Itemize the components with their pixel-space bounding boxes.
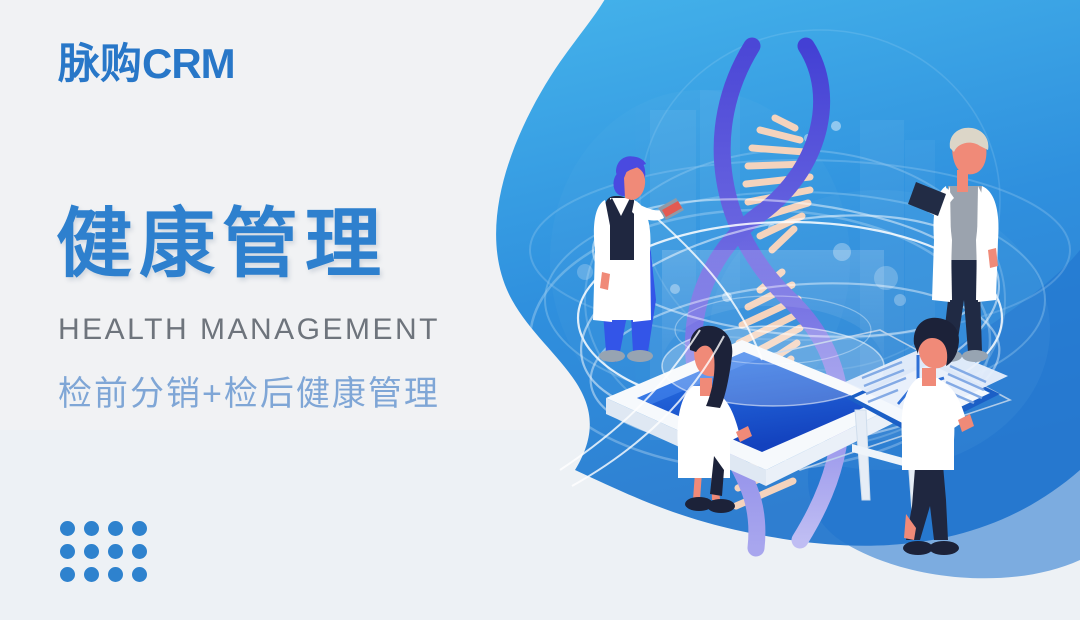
- brand-logo-cn: 脉购: [58, 40, 142, 87]
- brand-logo[interactable]: 脉购CRM: [58, 43, 235, 85]
- banner-artwork: [0, 0, 1080, 620]
- health-management-banner: 脉购CRM 健康管理 HEALTH MANAGEMENT 检前分销+检后健康管理: [0, 0, 1080, 620]
- brand-logo-latin: CRM: [142, 40, 235, 87]
